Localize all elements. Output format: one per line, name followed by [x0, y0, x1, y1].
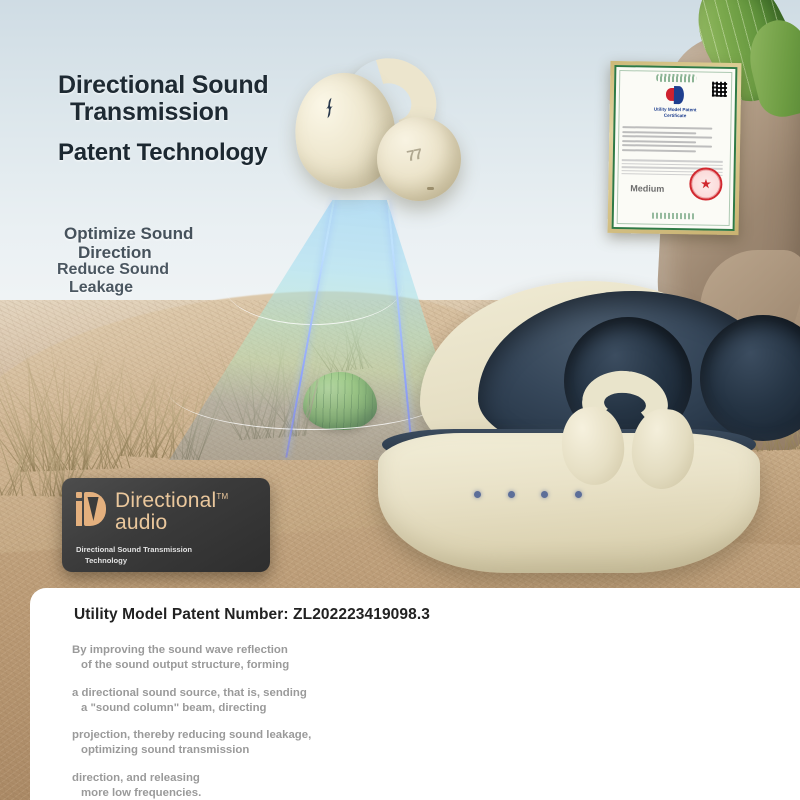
certificate-inner: Utility Model Patent Certificate Medium: [612, 65, 738, 231]
case-cavity-right: [700, 315, 800, 441]
paragraph-line1: direction, and releasing: [72, 772, 200, 784]
paragraph-line2: more low frequencies.: [72, 786, 452, 800]
patent-description-paragraph: By improving the sound wave reflectionof…: [72, 643, 452, 674]
certificate-emblem-icon: [665, 86, 685, 104]
led-indicator-1: [474, 491, 481, 498]
logo-dot: [76, 492, 82, 498]
charging-case-product-image: [378, 281, 760, 573]
logo-bar: [76, 501, 82, 526]
earbud-in-case: [556, 371, 704, 479]
brand-badge-row: DirectionalTM audio: [76, 490, 256, 535]
cert-line: [622, 144, 712, 148]
certificate-title-line2: Certificate: [664, 113, 687, 118]
grass-tuft: [0, 385, 72, 496]
brand-name-line1: Directional: [115, 489, 216, 512]
earbud-side-mark: 77: [405, 146, 423, 166]
feature-reduce-sound-leakage: Reduce Sound Leakage: [57, 261, 169, 297]
certificate-bottom-ornament: [651, 213, 695, 220]
emblem-blue-part: [673, 86, 683, 104]
directional-d-logo-icon: [76, 492, 106, 526]
feature1-line1: Optimize Sound: [64, 224, 193, 243]
qr-code-icon: [712, 82, 727, 97]
patent-description-body: By improving the sound wave reflectionof…: [72, 643, 452, 800]
cert-line: [622, 149, 696, 152]
brand-wave-logo-icon: [322, 96, 337, 119]
trademark-symbol: TM: [216, 492, 228, 501]
main-headline-line1: Directional Sound: [58, 71, 269, 99]
grass-blade: [130, 365, 131, 457]
brand-name-line2: audio: [115, 512, 228, 534]
case-led-indicators: [474, 491, 582, 499]
main-headline: Directional Sound Transmission: [58, 72, 269, 126]
sub-headline: Patent Technology: [58, 139, 268, 167]
feature-optimize-sound-direction: Optimize Sound Direction: [64, 224, 193, 262]
patent-certificate-image: Utility Model Patent Certificate Medium: [608, 61, 742, 235]
led-indicator-4: [575, 491, 582, 498]
feature2-line1: Reduce Sound: [57, 261, 169, 278]
brand-tagline-line1: Directional Sound Transmission: [76, 545, 192, 554]
patent-description-paragraph: direction, and releasingmore low frequen…: [72, 771, 452, 800]
certificate-field-lines: [622, 123, 728, 155]
patent-number-title: Utility Model Patent Number: ZL202223419…: [74, 606, 430, 624]
brand-tagline: Directional Sound Transmission Technolog…: [76, 544, 256, 566]
cert-para-line: [622, 159, 723, 162]
earbud-product-image: 77: [285, 55, 465, 235]
main-headline-line2: Transmission: [58, 99, 269, 126]
product-marketing-image: 55° 77: [0, 0, 800, 800]
bottom-info-panel: Utility Model Patent Number: ZL202223419…: [30, 588, 800, 800]
brand-tagline-line2: Technology: [76, 555, 256, 566]
feature1-line2: Direction: [64, 243, 193, 262]
cert-line: [622, 135, 712, 139]
certificate-title-line1: Utility Model Patent: [654, 107, 697, 113]
paragraph-line1: By improving the sound wave reflection: [72, 644, 288, 656]
cert-para-line: [622, 163, 723, 166]
cert-line: [622, 126, 712, 130]
paragraph-line1: a directional sound source, that is, sen…: [72, 687, 307, 699]
feature2-line2: Leakage: [57, 279, 169, 297]
paragraph-line2: of the sound output structure, forming: [72, 658, 452, 673]
led-indicator-3: [541, 491, 548, 498]
paragraph-line2: optimizing sound transmission: [72, 743, 452, 758]
patent-description-paragraph: projection, thereby reducing sound leaka…: [72, 728, 452, 759]
official-seal-icon: [689, 167, 723, 201]
brand-name: DirectionalTM audio: [115, 490, 228, 535]
led-indicator-2: [508, 491, 515, 498]
paragraph-line1: projection, thereby reducing sound leaka…: [72, 729, 311, 741]
certificate-top-ornament: [656, 74, 696, 83]
patent-description-paragraph: a directional sound source, that is, sen…: [72, 686, 452, 717]
cert-line: [622, 131, 696, 134]
cert-line: [622, 140, 696, 143]
brand-badge: DirectionalTM audio Directional Sound Tr…: [62, 478, 270, 572]
certificate-title: Utility Model Patent Certificate: [654, 107, 697, 120]
certificate-grade-label: Medium: [630, 183, 664, 194]
paragraph-line2: a "sound column" beam, directing: [72, 701, 452, 716]
